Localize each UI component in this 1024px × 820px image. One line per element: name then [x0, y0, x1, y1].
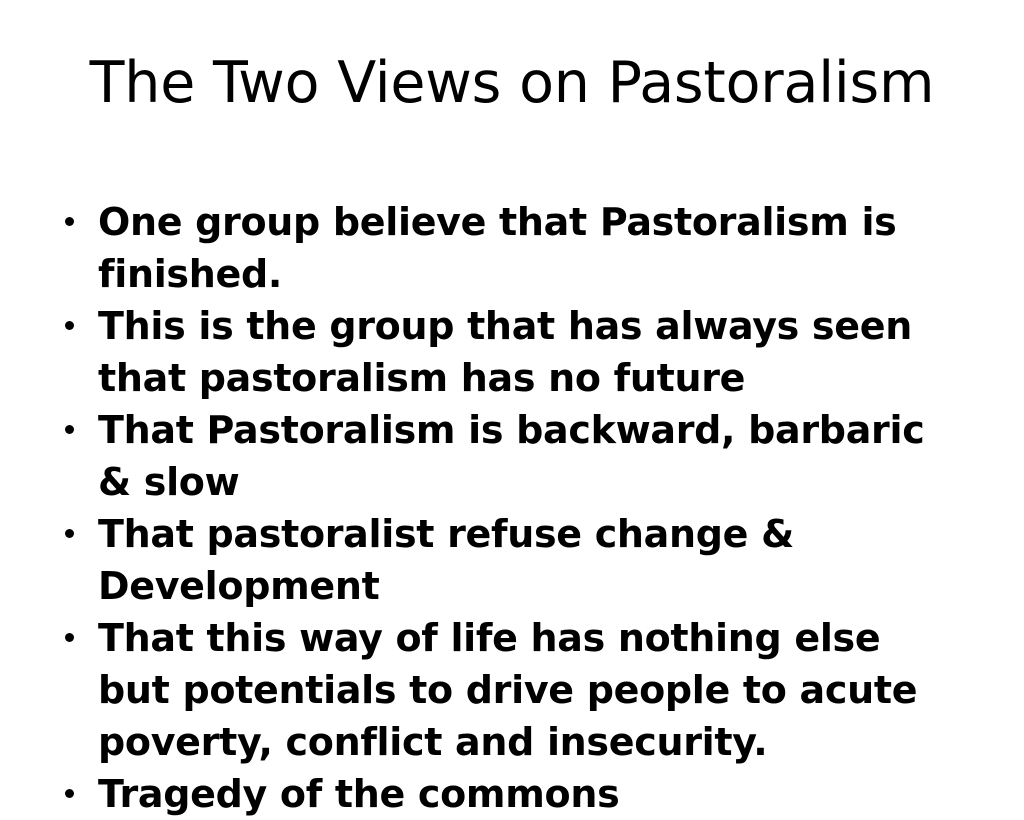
bullet-dot-icon — [65, 529, 74, 538]
list-item: That this way of life has nothing else b… — [56, 612, 956, 768]
list-item-label: That pastoralist refuse change & Develop… — [98, 508, 956, 612]
list-item: That pastoralist refuse change & Develop… — [56, 508, 956, 612]
bullet-dot-icon — [65, 321, 74, 330]
slide-canvas: The Two Views on Pastoralism One group b… — [0, 0, 1024, 768]
list-item: This is the group that has always seen t… — [56, 300, 956, 404]
list-item-label: That this way of life has nothing else b… — [98, 612, 956, 768]
bullet-dot-icon — [65, 789, 74, 798]
page-title: The Two Views on Pastoralism — [0, 52, 1024, 116]
bullet-dot-icon — [65, 425, 74, 434]
bullet-list: One group believe that Pastoralism is fi… — [56, 196, 956, 820]
bullet-dot-icon — [65, 633, 74, 642]
list-item-label: Tragedy of the commons — [98, 768, 956, 820]
list-item-label: One group believe that Pastoralism is fi… — [98, 196, 956, 300]
list-item: Tragedy of the commons — [56, 768, 956, 820]
list-item-label: That Pastoralism is backward, barbaric &… — [98, 404, 956, 508]
bullet-dot-icon — [65, 217, 74, 226]
list-item-label: This is the group that has always seen t… — [98, 300, 956, 404]
slide-body: One group believe that Pastoralism is fi… — [56, 196, 956, 820]
list-item: That Pastoralism is backward, barbaric &… — [56, 404, 956, 508]
list-item: One group believe that Pastoralism is fi… — [56, 196, 956, 300]
